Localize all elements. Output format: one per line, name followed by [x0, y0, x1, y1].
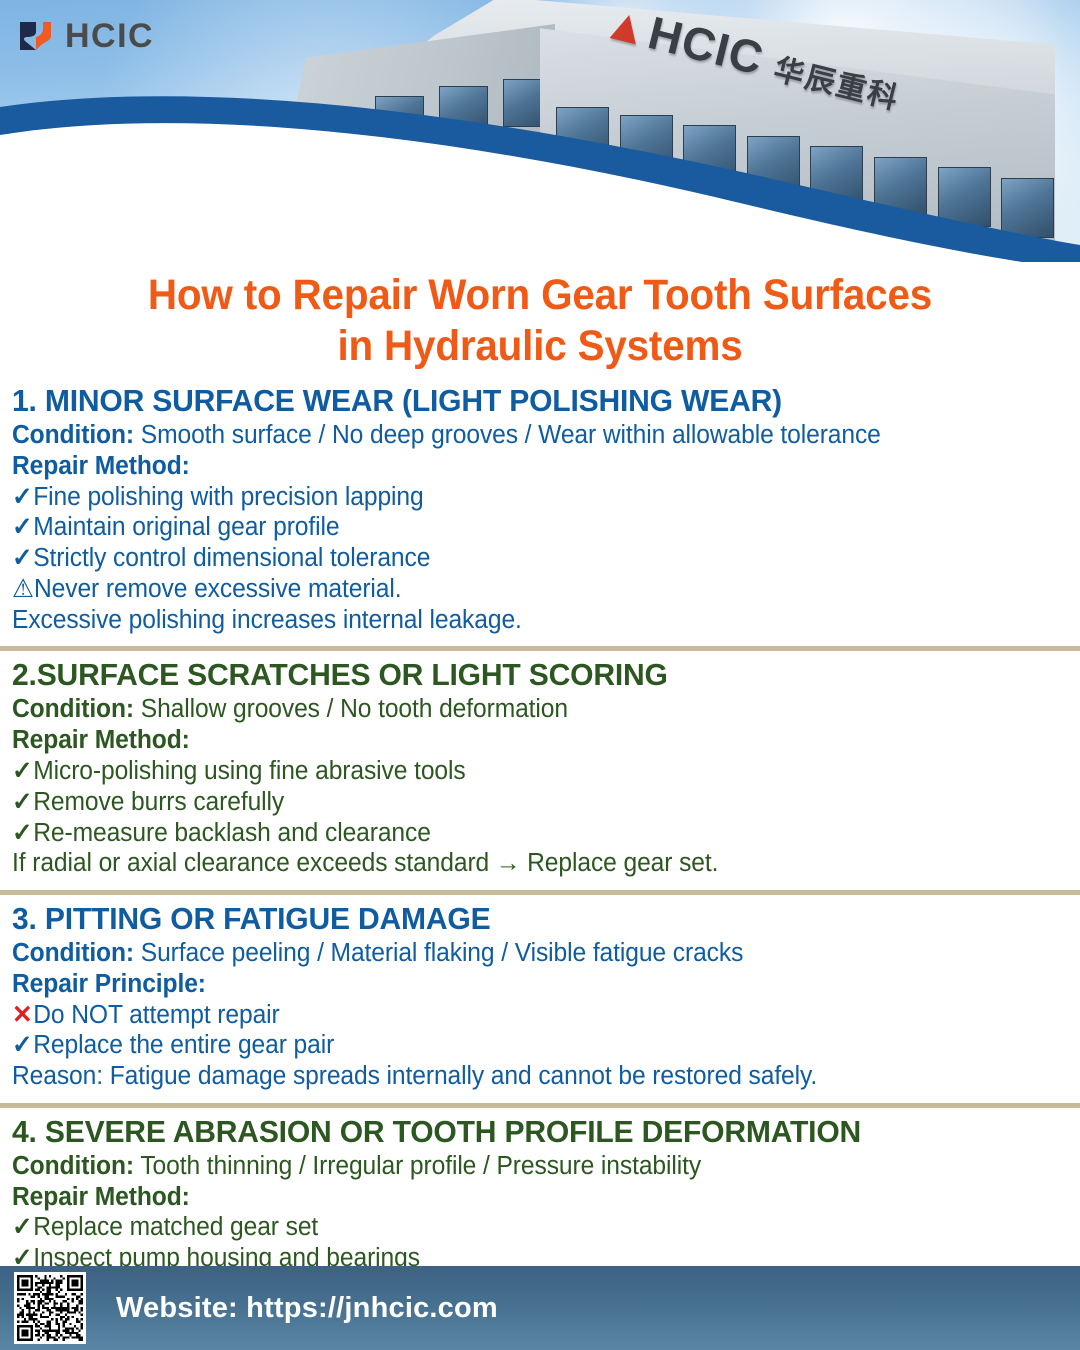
section-list-item: ✓Strictly control dimensional tolerance: [12, 542, 1031, 573]
section-divider: [0, 1103, 1080, 1108]
condition-label: Condition:: [12, 695, 134, 723]
section-method-label: Repair Method:: [12, 1181, 1031, 1212]
section-minor-surface-wear: 1. MINOR SURFACE WEAR (LIGHT POLISHING W…: [12, 383, 1068, 638]
page-title-line2: in Hydraulic Systems: [32, 321, 1047, 372]
list-item-text: Fine polishing with precision lapping: [33, 483, 423, 511]
section-list-item: ✓Maintain original gear profile: [12, 511, 1031, 542]
section-list-item: ✓Replace matched gear set: [12, 1211, 1031, 1242]
section-divider: [0, 646, 1080, 651]
section-list-item: ✓Fine polishing with precision lapping: [12, 481, 1031, 512]
check-icon: ✓: [12, 758, 33, 786]
method-label: Repair Method:: [12, 1183, 190, 1211]
condition-value: Surface peeling / Material flaking / Vis…: [134, 939, 743, 967]
method-label: Repair Method:: [12, 452, 190, 480]
list-item-text: Maintain original gear profile: [33, 513, 339, 541]
section-heading: 1. MINOR SURFACE WEAR (LIGHT POLISHING W…: [12, 383, 1036, 419]
section-list-item: ✓Replace the entire gear pair: [12, 1029, 1031, 1060]
section-list-item: ✓Re-measure backlash and clearance: [12, 817, 1031, 848]
section-surface-scratches: 2.SURFACE SCRATCHES OR LIGHT SCORINGCond…: [12, 657, 1068, 882]
section-note: Reason: Fatigue damage spreads internall…: [12, 1060, 1031, 1091]
list-item-text: Strictly control dimensional tolerance: [33, 544, 430, 572]
section-condition: Condition: Tooth thinning / Irregular pr…: [12, 1150, 1031, 1181]
section-note: If radial or axial clearance exceeds sta…: [12, 847, 1031, 878]
hcic-logo: HCIC: [16, 16, 154, 56]
check-icon: ✓: [12, 1214, 33, 1242]
section-note: Excessive polishing increases internal l…: [12, 604, 1031, 635]
hcic-logo-text: HCIC: [65, 19, 154, 53]
section-method-label: Repair Principle:: [12, 968, 1031, 999]
section-condition: Condition: Surface peeling / Material fl…: [12, 937, 1031, 968]
warning-triangle-icon: ⚠: [12, 576, 34, 604]
section-list-item: ✕Do NOT attempt repair: [12, 999, 1031, 1030]
method-label: Repair Principle:: [12, 970, 206, 998]
condition-value: Tooth thinning / Irregular profile / Pre…: [134, 1152, 701, 1180]
list-item-text: Replace matched gear set: [33, 1213, 318, 1241]
list-item-text: Remove burrs carefully: [33, 788, 284, 816]
check-icon: ✓: [12, 820, 33, 848]
list-item-text: Never remove excessive material.: [34, 575, 402, 603]
check-icon: ✓: [12, 514, 33, 542]
list-item-text: Replace the entire gear pair: [33, 1031, 334, 1059]
hcic-logo-mark-icon: [16, 16, 56, 56]
condition-label: Condition:: [12, 421, 134, 449]
website-label: Website: https://jnhcic.com: [116, 1292, 498, 1325]
section-list-item: ⚠Never remove excessive material.: [12, 573, 1031, 604]
condition-label: Condition:: [12, 1152, 134, 1180]
check-icon: ✓: [12, 1032, 33, 1060]
header-banner: ▲HCIC 华辰重科 HCIC: [0, 0, 1080, 262]
list-item-text: Micro-polishing using fine abrasive tool…: [33, 757, 465, 785]
section-condition: Condition: Shallow grooves / No tooth de…: [12, 693, 1031, 724]
section-heading: 2.SURFACE SCRATCHES OR LIGHT SCORING: [12, 657, 1036, 693]
check-icon: ✓: [12, 789, 33, 817]
condition-value: Shallow grooves / No tooth deformation: [134, 695, 568, 723]
check-icon: ✓: [12, 545, 33, 573]
section-list-item: ✓Micro-polishing using fine abrasive too…: [12, 755, 1031, 786]
blue-wave-divider: [0, 95, 1080, 262]
infographic-poster: ▲HCIC 华辰重科 HCIC How to Repair Worn Gear …: [0, 0, 1080, 1350]
section-pitting-fatigue-damage: 3. PITTING OR FATIGUE DAMAGECondition: S…: [12, 901, 1068, 1095]
check-icon: ✓: [12, 484, 33, 512]
qr-code-icon[interactable]: [14, 1272, 86, 1344]
method-label: Repair Method:: [12, 726, 190, 754]
page-title-line1: How to Repair Worn Gear Tooth Surfaces: [32, 270, 1047, 321]
footer-bar: Website: https://jnhcic.com: [0, 1266, 1080, 1350]
condition-value: Smooth surface / No deep grooves / Wear …: [134, 421, 881, 449]
section-method-label: Repair Method:: [12, 450, 1031, 481]
section-heading: 4. SEVERE ABRASION OR TOOTH PROFILE DEFO…: [12, 1114, 1036, 1150]
section-divider: [0, 890, 1080, 895]
content-sections: 1. MINOR SURFACE WEAR (LIGHT POLISHING W…: [0, 383, 1080, 1339]
cross-icon: ✕: [12, 1002, 33, 1030]
section-condition: Condition: Smooth surface / No deep groo…: [12, 419, 1031, 450]
page-title: How to Repair Worn Gear Tooth Surfaces i…: [32, 270, 1047, 371]
section-method-label: Repair Method:: [12, 724, 1031, 755]
section-list-item: ✓Remove burrs carefully: [12, 786, 1031, 817]
section-heading: 3. PITTING OR FATIGUE DAMAGE: [12, 901, 1036, 937]
list-item-text: Do NOT attempt repair: [33, 1001, 279, 1029]
condition-label: Condition:: [12, 939, 134, 967]
list-item-text: Re-measure backlash and clearance: [33, 819, 431, 847]
